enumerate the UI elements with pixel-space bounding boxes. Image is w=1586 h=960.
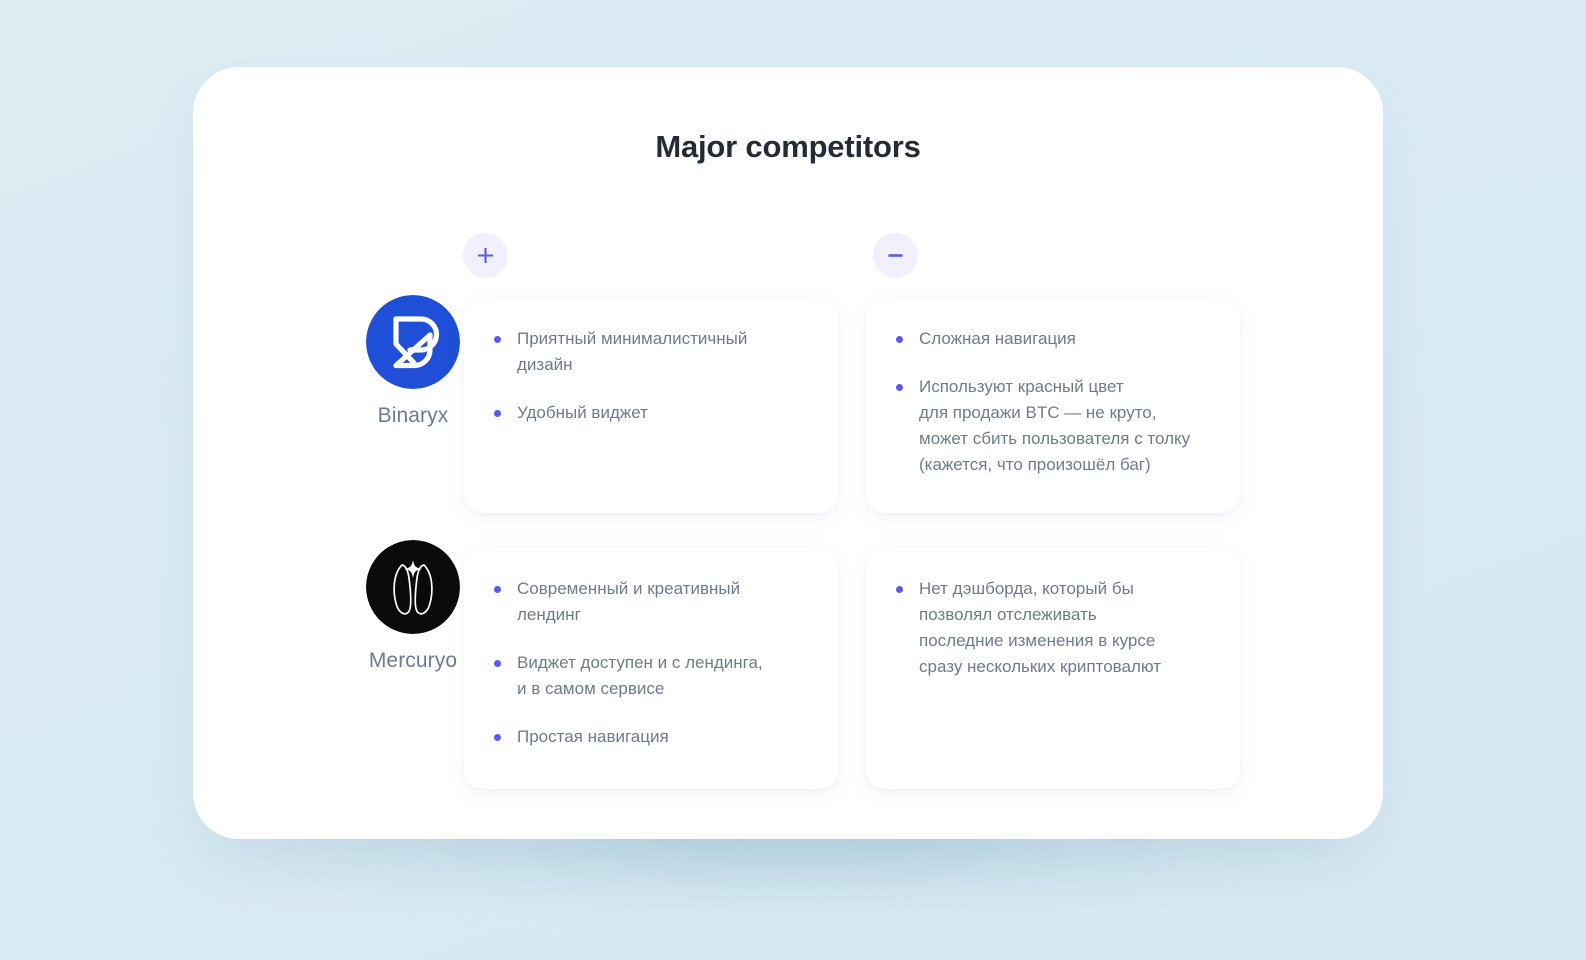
pros-card-mercuryo: Современный и креативный лендинг Виджет … — [464, 548, 838, 789]
minus-icon — [886, 246, 905, 265]
column-header-row — [193, 233, 1383, 279]
screen: Major competitors — [0, 0, 1586, 960]
list-item: Сложная навигация — [896, 326, 1210, 352]
cons-column-badge[interactable] — [873, 233, 918, 278]
list-item: Простая навигация — [494, 724, 808, 750]
list-item: Приятный минималистичный дизайн — [494, 326, 808, 378]
list-item: Современный и креативный лендинг — [494, 576, 808, 628]
cons-list: Нет дэшборда, который бы позволял отслеж… — [896, 576, 1210, 680]
list-item: Удобный виджет — [494, 400, 808, 426]
pros-column-badge[interactable] — [463, 233, 508, 278]
comparison-grid: Binaryx Приятный минималистичный дизайн … — [193, 67, 1383, 839]
cons-card-binaryx: Сложная навигация Используют красный цве… — [866, 298, 1240, 513]
pros-list: Приятный минималистичный дизайн Удобный … — [494, 326, 808, 426]
pros-list: Современный и креативный лендинг Виджет … — [494, 576, 808, 750]
binaryx-logo — [366, 295, 460, 389]
competitors-panel: Major competitors — [193, 67, 1383, 839]
pros-card-binaryx: Приятный минималистичный дизайн Удобный … — [464, 298, 838, 513]
cons-list: Сложная навигация Используют красный цве… — [896, 326, 1210, 478]
cons-card-mercuryo: Нет дэшборда, который бы позволял отслеж… — [866, 548, 1240, 789]
list-item: Нет дэшборда, который бы позволял отслеж… — [896, 576, 1210, 680]
list-item: Используют красный цвет для продажи BTC … — [896, 374, 1210, 478]
plus-icon — [476, 246, 495, 265]
list-item: Виджет доступен и с лендинга, и в самом … — [494, 650, 808, 702]
mercuryo-logo — [366, 540, 460, 634]
